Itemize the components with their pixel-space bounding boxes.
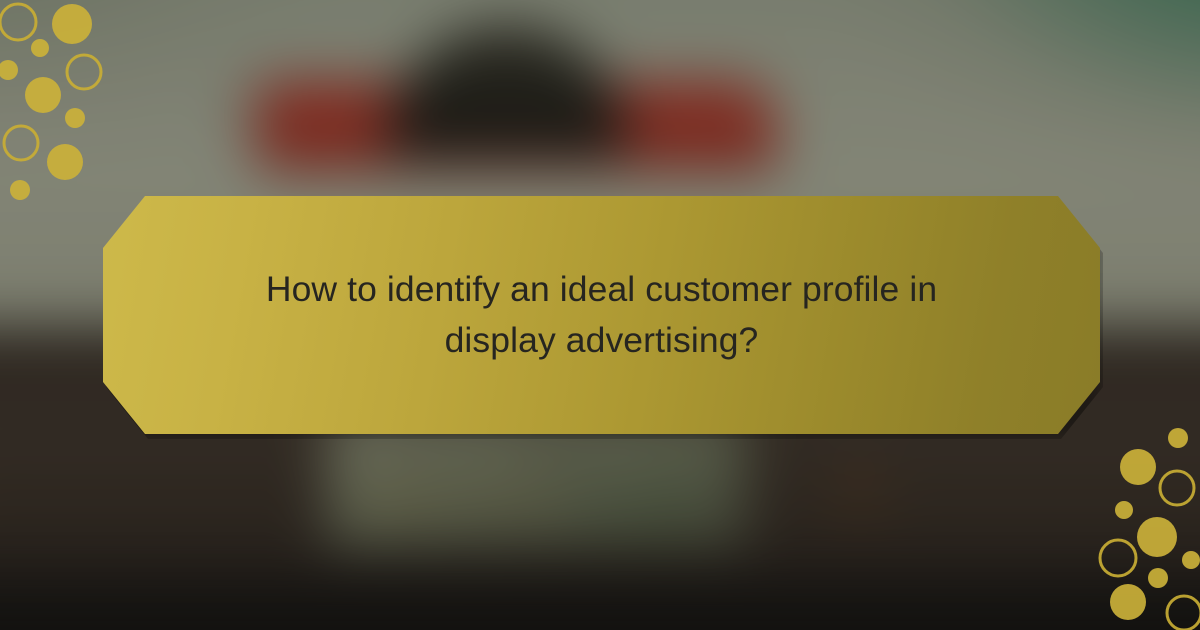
- title-banner: How to identify an ideal customer profil…: [103, 196, 1100, 434]
- page-title: How to identify an ideal customer profil…: [232, 264, 972, 366]
- cover-card: How to identify an ideal customer profil…: [0, 0, 1200, 630]
